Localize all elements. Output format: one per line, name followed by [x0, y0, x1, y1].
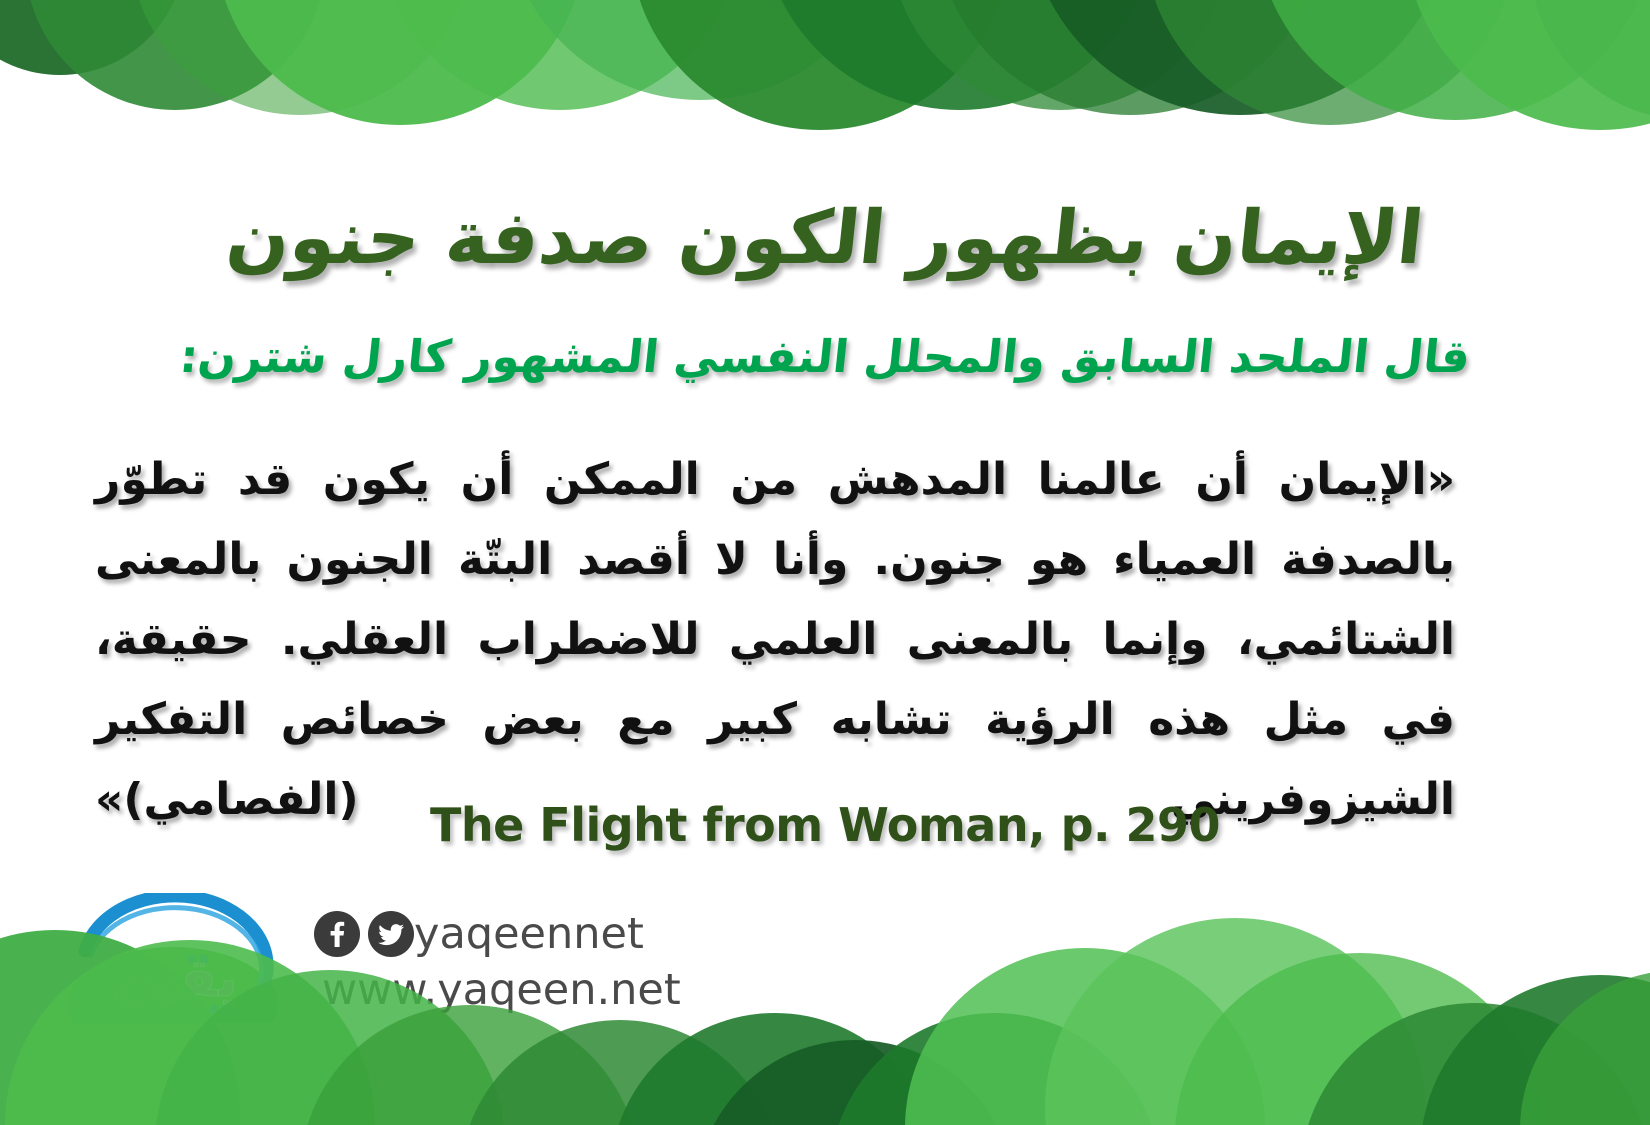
svg-text:يقين: يقين	[113, 949, 238, 1009]
page-title: الإيمان بظهور الكون صدفة جنون	[0, 196, 1650, 281]
social-handles: yaqeennet www.yaqeen.net	[300, 908, 820, 1016]
poster-canvas: الإيمان بظهور الكون صدفة جنون قال الملحد…	[0, 0, 1650, 1125]
website-url: www.yaqeen.net	[322, 969, 681, 1012]
social-handle-row: yaqeennet	[300, 908, 820, 960]
poster-content: الإيمان بظهور الكون صدفة جنون قال الملحد…	[0, 0, 1650, 1125]
yaqeen-logo-graphic: يقين	[55, 893, 305, 1023]
social-handle-text: yaqeennet	[414, 913, 644, 956]
quote-text: «الإيمان أن عالمنا المدهش من الممكن أن ي…	[95, 440, 1455, 840]
yaqeen-logo: يقين	[55, 893, 305, 1023]
source-citation: The Flight from Woman, p. 290	[0, 798, 1650, 852]
facebook-icon[interactable]	[314, 911, 360, 957]
subtitle-attribution: قال الملحد السابق والمحلل النفسي المشهور…	[0, 330, 1650, 384]
social-icon-group	[314, 911, 414, 957]
quote-body: «الإيمان أن عالمنا المدهش من الممكن أن ي…	[95, 440, 1455, 840]
twitter-icon[interactable]	[368, 911, 414, 957]
website-row: www.yaqeen.net	[322, 964, 820, 1016]
